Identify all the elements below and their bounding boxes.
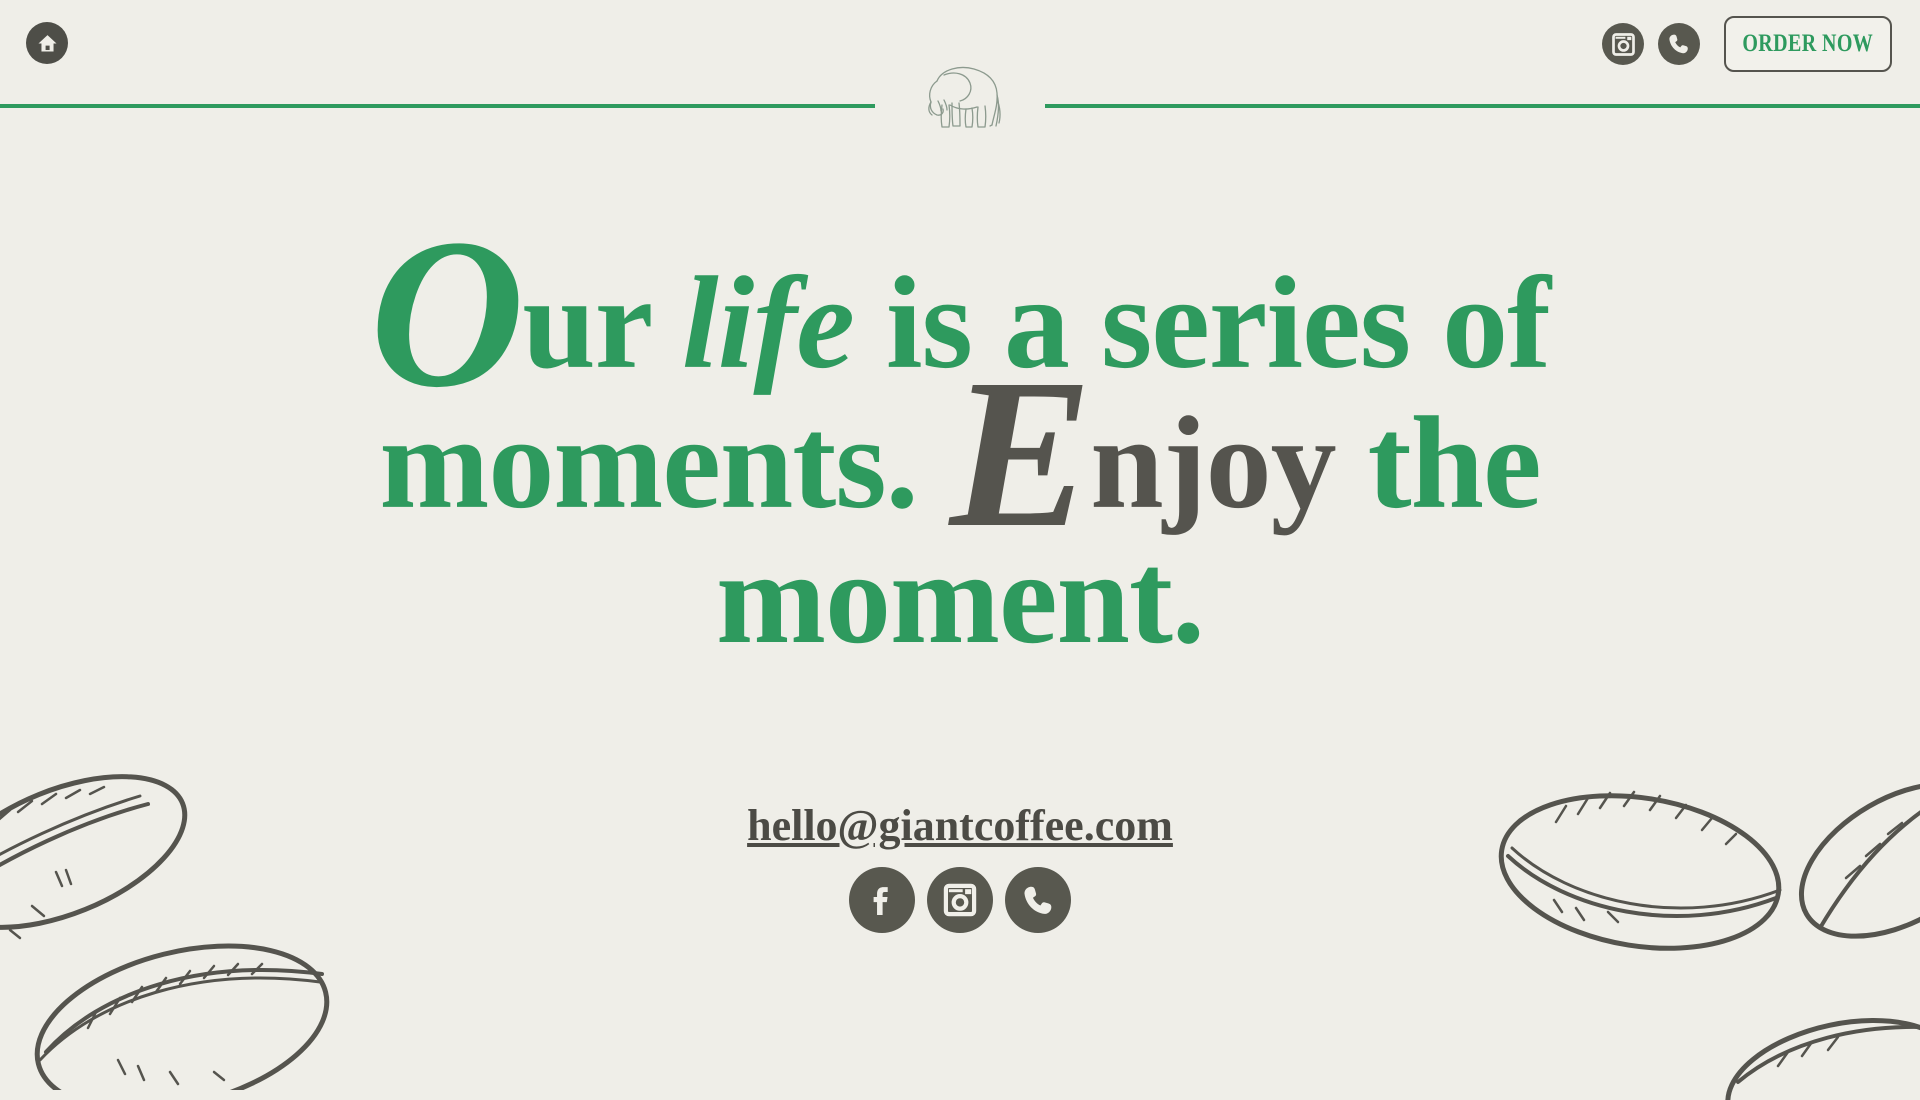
page-title: Our life is a series of moments. Enjoy t…	[310, 250, 1610, 666]
headline-italic-life: life	[682, 249, 854, 396]
home-button[interactable]	[26, 22, 68, 64]
header-actions: ORDER NOW	[1602, 16, 1892, 72]
phone-button[interactable]	[1005, 867, 1071, 933]
order-now-button[interactable]: ORDER NOW	[1724, 16, 1892, 72]
headline-line2-tail: the	[1336, 389, 1541, 536]
social-links	[0, 867, 1920, 933]
instagram-icon	[1611, 32, 1636, 57]
facebook-button[interactable]	[849, 867, 915, 933]
hero-section: Our life is a series of moments. Enjoy t…	[0, 250, 1920, 666]
instagram-icon	[942, 882, 978, 918]
headline-enjoy-rest: njoy	[1090, 389, 1335, 536]
email-link[interactable]: hello@giantcoffee.com	[747, 800, 1173, 851]
contact-section: hello@giantcoffee.com	[0, 800, 1920, 933]
headline-line3: moment.	[716, 524, 1204, 671]
headline-line2-pre: moments.	[379, 389, 949, 536]
phone-icon	[1021, 883, 1056, 918]
order-now-label: ORDER NOW	[1743, 30, 1874, 58]
header-phone-button[interactable]	[1658, 23, 1700, 65]
headline-line1-rest: ur	[522, 249, 682, 396]
facebook-icon	[864, 882, 900, 918]
instagram-button[interactable]	[927, 867, 993, 933]
header-instagram-button[interactable]	[1602, 23, 1644, 65]
phone-icon	[1667, 32, 1691, 56]
home-icon	[36, 32, 59, 55]
site-header: ORDER NOW	[0, 0, 1920, 105]
